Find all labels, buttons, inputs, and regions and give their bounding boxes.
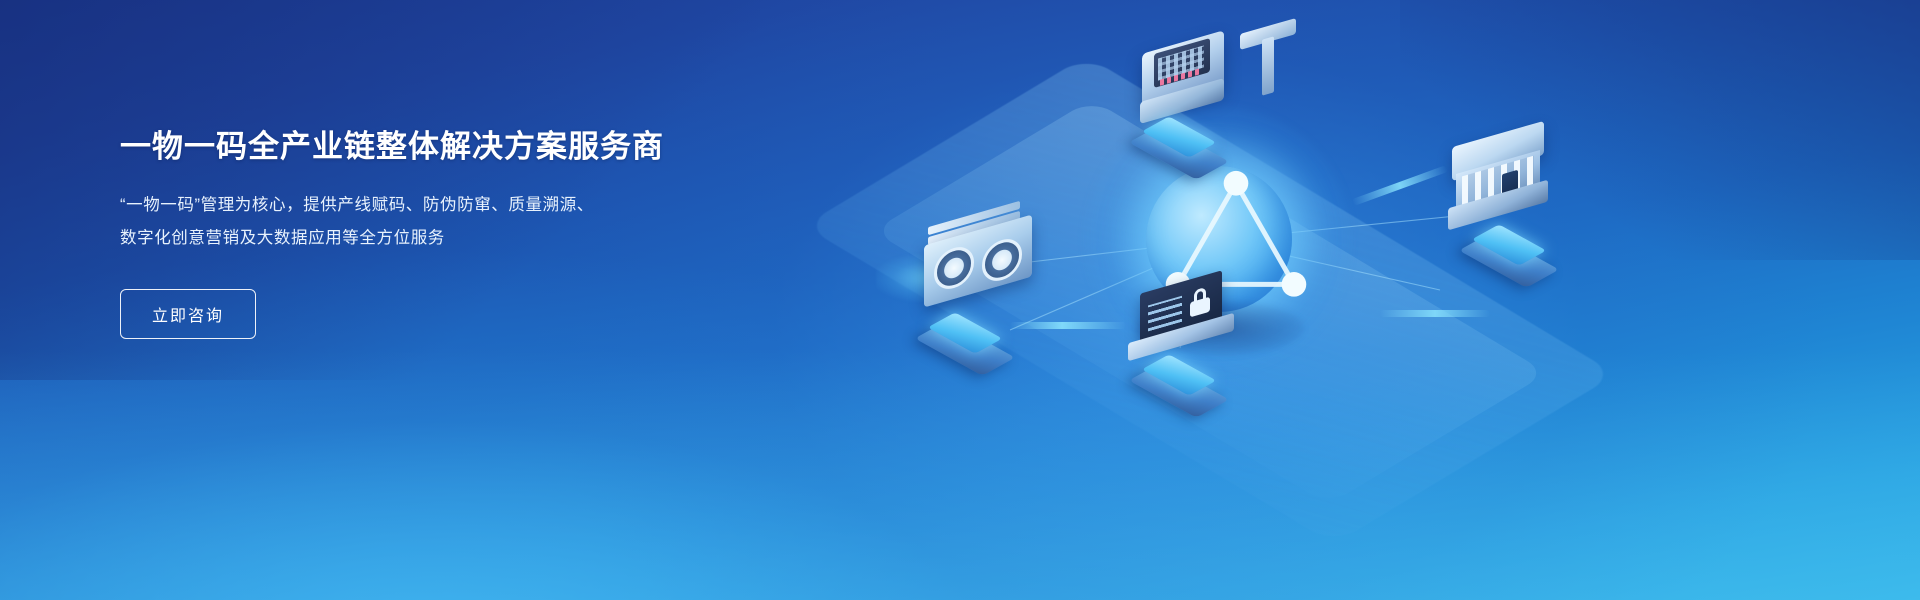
pos-terminal-icon (1130, 28, 1242, 124)
laptop-text-lines (1148, 296, 1182, 332)
pedestal-server (928, 316, 1002, 362)
page-title: 一物一码全产业链整体解决方案服务商 (120, 128, 760, 167)
isometric-illustration (880, 0, 1920, 600)
subtitle-line-2: 数字化创意营销及大数据应用等全方位服务 (120, 222, 760, 255)
data-pulse-right-lower (1380, 310, 1490, 317)
data-pulse-left (1010, 322, 1126, 329)
server-fan-icon (898, 196, 1048, 316)
lock-body (1190, 297, 1210, 318)
laptop-lock-icon (1120, 278, 1250, 368)
wand-stem (1262, 36, 1274, 95)
hero-banner: 一物一码全产业链整体解决方案服务商 “一物一码”管理为核心，提供产线赋码、防伪防… (0, 0, 1920, 600)
bank-building-icon (1440, 128, 1570, 238)
pedestal-pos (1142, 120, 1216, 166)
consult-now-button[interactable]: 立即咨询 (120, 289, 256, 339)
scanner-wand-icon (1232, 18, 1302, 128)
hero-copy: 一物一码全产业链整体解决方案服务商 “一物一码”管理为核心，提供产线赋码、防伪防… (120, 128, 760, 339)
lock-icon (1190, 286, 1210, 318)
hero-subtitle: “一物一码”管理为核心，提供产线赋码、防伪防窜、质量溯源、 数字化创意营销及大数… (120, 189, 760, 255)
pedestal-bank (1472, 228, 1546, 274)
pedestal-laptop (1142, 358, 1216, 404)
subtitle-line-1: “一物一码”管理为核心，提供产线赋码、防伪防窜、质量溯源、 (120, 189, 760, 222)
